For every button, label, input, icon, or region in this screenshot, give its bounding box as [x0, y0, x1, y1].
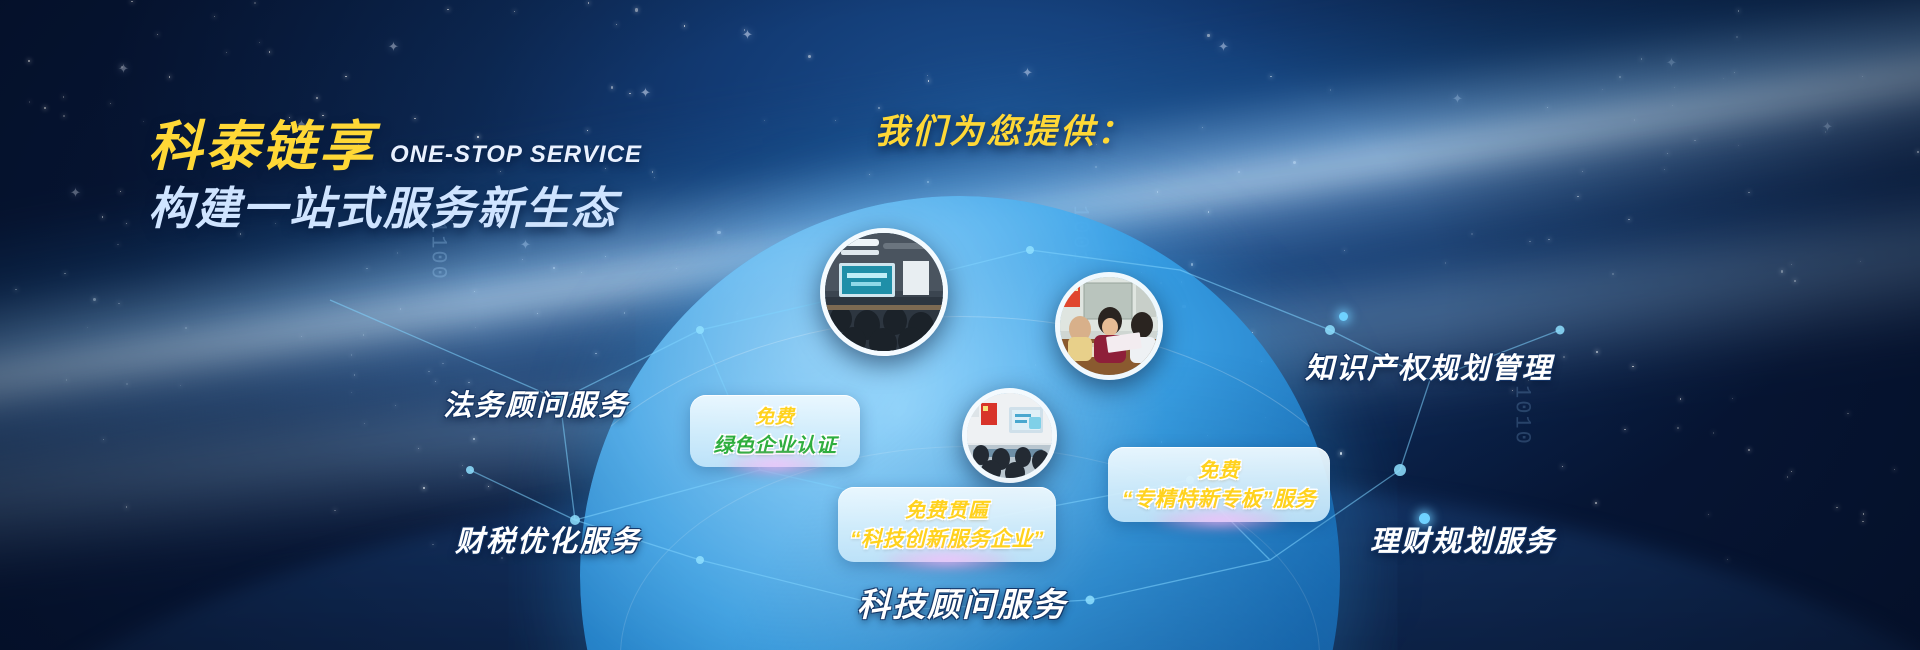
- service-label-wealth[interactable]: 理财规划服务: [1370, 518, 1556, 560]
- photo-consult-meeting-image: [1060, 277, 1158, 375]
- badge-specialized-new-glow: [1150, 509, 1288, 531]
- photo-training-hall-image: [825, 233, 943, 351]
- headline-subtitle: 构建一站式服务新生态: [148, 186, 642, 231]
- banner-root: ✦✦✦✦✦✦✦✦✦✦✦✦ 1100 1001 1010: [0, 0, 1920, 650]
- badge-tech-innovation-glow: [879, 549, 1014, 571]
- photo-training-hall: [820, 228, 948, 356]
- headline-brand: 科泰链享: [148, 120, 376, 174]
- headline-block: 科泰链享 ONE-STOP SERVICE 构建一站式服务新生态: [148, 120, 642, 231]
- photo-small-meeting-image: [967, 393, 1052, 478]
- badge-specialized-new[interactable]: 免费 “专精特新专板”服务: [1108, 447, 1330, 522]
- service-label-legal[interactable]: 法务顾问服务: [443, 382, 629, 424]
- badge-green-enterprise-glow: [722, 454, 827, 476]
- badge-green-enterprise-line1: 免费: [755, 402, 795, 429]
- photo-consult-meeting: [1055, 272, 1163, 380]
- service-label-finance[interactable]: 财税优化服务: [455, 518, 641, 560]
- headline-english: ONE-STOP SERVICE: [390, 141, 642, 174]
- glow-node-wealth: [1419, 513, 1430, 524]
- glow-node-ip: [1339, 312, 1348, 321]
- provide-title: 我们为您提供：: [875, 104, 1134, 153]
- photo-small-meeting: [962, 388, 1057, 483]
- badge-tech-innovation-line1: 免费贯匾: [905, 494, 989, 523]
- service-label-ip[interactable]: 知识产权规划管理: [1305, 345, 1553, 387]
- service-label-tech[interactable]: 科技顾问服务: [857, 578, 1067, 626]
- badge-specialized-new-line1: 免费: [1198, 454, 1240, 483]
- badge-green-enterprise[interactable]: 免费 绿色企业认证: [690, 395, 860, 467]
- badge-tech-innovation[interactable]: 免费贯匾 “科技创新服务企业”: [838, 487, 1056, 562]
